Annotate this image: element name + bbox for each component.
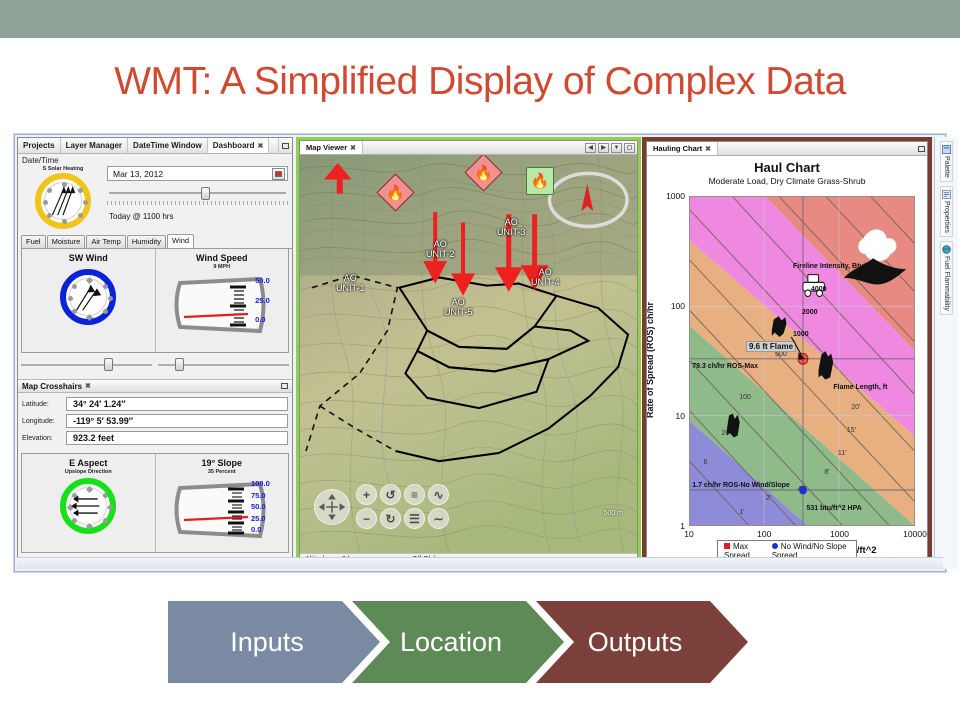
crosshair-row-elevation: Elevation: 923.2 feet [22,431,288,445]
menu-label: DateTime Window [133,141,202,150]
maximize-button[interactable]: ◻ [624,143,635,153]
page-title: WMT: A Simplified Display of Complex Dat… [0,60,960,104]
aspect-gauge: E Aspect Upslope Direction [22,454,155,552]
chart-plot-area[interactable]: Fireline Intensity, Btu/ft/sec 4000 2000… [689,196,915,526]
scale-value: 75.0 [251,492,270,500]
wind-speed-sub: 9 MPH [156,264,289,270]
slider-track-line [109,192,286,194]
next-button[interactable]: ▶ [598,143,609,153]
fire-symbol-safe-icon[interactable]: 🔥 [526,167,554,195]
rail-label: Fuel Flammability [943,256,950,311]
haul-chart-data-points [690,197,914,525]
palette-icon [942,145,951,154]
datetime-fields: Mar 13, 2012 Today @ 1100 hrs [104,166,288,229]
flow-step-location[interactable]: Location [352,601,564,683]
minimize-icon [918,146,925,152]
terrain-button[interactable]: ∿ [428,484,449,505]
window-status-bar [17,557,943,569]
ao-label-unit-4: AO UNIT-4 [531,267,560,287]
ao-line1: AO [434,239,447,249]
time-slider[interactable] [107,186,288,200]
tab-label: Map Viewer [306,143,347,152]
tab-label: Humidity [132,237,161,246]
tab-air-temp[interactable]: Air Temp [86,235,125,248]
slider-thumb[interactable] [201,187,210,200]
tab-label: Fuel [26,237,41,246]
close-icon[interactable]: ✖ [85,382,91,390]
tilt-button[interactable]: ≡ [404,484,425,505]
flow-step-label: Location [400,627,516,658]
scale-value: 0.0 [251,526,270,534]
rotate-left-button[interactable]: ↺ [380,484,401,505]
chart-y-axis-label: Rate of Spread (ROS) ch/hr [646,302,655,418]
tab-hauling-chart[interactable]: Hauling Chart ✖ [647,142,718,155]
menu-label: Dashboard [213,141,255,150]
wind-gauge-group: SW Wind [21,249,289,353]
x-tick: 10 [684,529,693,539]
hauling-chart-tabbar: Hauling Chart ✖ [647,142,927,156]
slope-sub: 35 Percent [156,469,289,475]
slope-title: 19° Slope [156,458,289,468]
tab-label: Wind [172,236,189,245]
x-tick: 100 [757,529,771,539]
minimize-icon [282,143,289,149]
solar-dial[interactable] [35,173,91,229]
close-icon[interactable]: ✖ [258,142,264,150]
minimize-icon[interactable] [281,383,288,389]
ao-label-unit-3: AO UNIT-3 [497,217,526,237]
ao-line2: UNIT-1 [336,283,365,293]
minimize-button[interactable] [278,138,292,153]
dropdown-button[interactable]: ▼ [611,143,622,153]
map-crosshairs-body: Latitude: 34° 24′ 1.24″ Longitude: -119°… [18,393,292,450]
wind-speed-title: Wind Speed [156,253,289,263]
close-icon[interactable]: ✖ [350,144,356,152]
slope-gauge: 19° Slope 35 Percent [155,454,289,552]
aspect-sub: Upslope Direction [22,469,155,475]
slider-track-line [21,364,152,366]
flow-step-outputs[interactable]: Outputs [536,601,748,683]
scale-value: 50.0 [255,277,270,285]
longitude-label: Longitude: [22,418,66,425]
map-crosshairs-title: Map Crosshairs [22,382,82,391]
map-canvas[interactable]: 🔥 🔥 🔥 AO UNIT-1 AO UNIT-2 A [300,155,637,553]
slope-dial[interactable]: 100.0 75.0 50.0 25.0 0.0 [168,478,276,540]
scale-value: 0.0 [255,316,270,324]
wind-speed-slider[interactable] [158,357,289,373]
elevation-value[interactable]: 923.2 feet [66,431,288,445]
y-tick: 100 [671,301,685,311]
wind-speed-dial[interactable]: 50.0 25.0 0.0 [168,273,276,335]
y-tick: 1000 [666,191,685,201]
tab-humidity[interactable]: Humidity [127,235,166,248]
menu-item-projects[interactable]: Projects [18,138,61,153]
inputs-panel: Projects Layer Manager DateTime Window D… [17,137,293,569]
flow-step-label: Inputs [230,627,318,658]
wind-speed-scale: 50.0 25.0 0.0 [255,277,270,324]
menu-label: Projects [23,141,55,150]
tab-label: Hauling Chart [653,144,702,153]
rail-label: Palette [943,156,950,178]
wind-direction-title: SW Wind [22,253,155,263]
application-window: Projects Layer Manager DateTime Window D… [14,134,946,572]
globe-icon [942,245,951,254]
latitude-label: Latitude: [22,401,66,408]
minimize-button[interactable] [915,146,927,152]
tab-label: Moisture [52,237,81,246]
ao-line2: UNIT-3 [497,227,526,237]
scale-value: 25.0 [251,515,270,523]
rail-label: Properties [943,201,950,233]
wind-direction-gauge: SW Wind [22,249,155,352]
tab-moisture[interactable]: Moisture [47,235,86,248]
time-slider-ticks [107,201,288,207]
ao-label-unit-1: AO UNIT-1 [336,273,365,293]
right-tool-rail: Palette Properties Fuel Flammability [934,137,958,569]
x-tick: 1000 [830,529,849,539]
map-viewer-tabbar: Map Viewer ✖ ◀ ▶ ▼ ◻ [300,141,637,155]
map-crosshairs-header[interactable]: Map Crosshairs ✖ [18,379,292,393]
solar-arrows-icon [41,179,85,223]
slider-thumb[interactable] [175,358,184,371]
wind-direction-dial[interactable] [60,269,116,325]
legend-swatch-square-icon [724,543,730,549]
menu-item-datetime-window[interactable]: DateTime Window [128,138,208,153]
aspect-title: E Aspect [22,458,155,468]
chart-plot-wrapper: 1 10 100 1000 10 100 1000 10000 [689,196,915,526]
hauling-chart-panel: Hauling Chart ✖ Haul Chart Moderate Load… [642,137,932,569]
ao-line2: UNIT-2 [426,249,455,259]
flatten-button[interactable]: ∼ [428,508,449,529]
process-flow-banner: Inputs Location Outputs [168,601,748,683]
date-value: Mar 13, 2012 [110,169,272,179]
today-text: Today @ 1100 hrs [107,212,288,221]
chart-subtitle: Moderate Load, Dry Climate Grass-Shrub [647,176,927,186]
ao-line1: AO [452,297,465,307]
wind-arrows-icon [66,275,110,319]
menu-item-layer-manager[interactable]: Layer Manager [61,138,128,153]
ao-label-unit-2: AO UNIT-2 [426,239,455,259]
ao-line1: AO [539,267,552,277]
map-viewer-panel: Map Viewer ✖ ◀ ▶ ▼ ◻ [296,137,641,569]
tab-fuel[interactable]: Fuel [21,235,46,248]
ao-label-unit-5: AO UNIT-5 [444,297,473,317]
flow-step-label: Outputs [588,627,697,658]
solar-caption: S Solar Heating [22,166,104,172]
pan-arrows-icon [315,490,349,524]
wind-direction-slider[interactable] [21,357,152,373]
flame-glyph-icon: 🔥 [527,168,553,194]
scale-value: 25.0 [255,297,270,305]
slider-thumb[interactable] [104,358,113,371]
y-tick: 10 [676,411,685,421]
crosshair-row-longitude: Longitude: -119° 5′ 53.99″ [22,414,288,428]
ao-line1: AO [505,217,518,227]
aspect-arrows-icon [66,484,110,528]
scale-value: 100.0 [251,480,270,488]
rotate-right-button[interactable]: ↻ [380,508,401,529]
properties-icon [942,190,951,199]
left-panel-menubar: Projects Layer Manager DateTime Window D… [18,138,292,154]
ao-boundaries-overlay [300,155,637,553]
longitude-value[interactable]: -119° 5′ 53.99″ [66,414,288,428]
close-icon[interactable]: ✖ [705,145,711,153]
solar-heating-gauge: S Solar Heating [22,166,104,229]
ao-line2: UNIT-4 [531,277,560,287]
menu-label: Layer Manager [66,141,122,150]
elevation-label: Elevation: [22,435,66,442]
rail-item-fuel-flammability[interactable]: Fuel Flammability [940,241,953,315]
ao-line1: AO [344,273,357,283]
datetime-row: S Solar Heating [18,166,292,229]
aspect-dial[interactable] [60,478,116,534]
rail-item-palette[interactable]: Palette [940,141,953,182]
crosshair-row-latitude: Latitude: 34° 24′ 1.24″ [22,397,288,411]
chart-title: Haul Chart [647,160,927,175]
zoom-in-button[interactable]: + [356,484,377,505]
weather-subtabs: Fuel Moisture Air Temp Humidity Wind [21,234,292,249]
flame-glyph-icon: 🔥 [383,180,408,205]
layers-button[interactable]: ☰ [404,508,425,529]
tab-wind[interactable]: Wind [167,234,194,248]
rail-item-properties[interactable]: Properties [940,186,953,237]
haul-chart-body: Haul Chart Moderate Load, Dry Climate Gr… [647,156,927,564]
legend-swatch-circle-icon [772,543,778,549]
calendar-button[interactable] [272,168,285,180]
datetime-section-label: Date/Time [18,154,292,166]
ao-line2: UNIT-5 [444,307,473,317]
calendar-icon [275,171,282,177]
menu-item-dashboard[interactable]: Dashboard ✖ [208,138,270,153]
wind-sliders [21,357,289,373]
flame-glyph-icon: 🔥 [471,160,496,185]
top-decorative-bar [0,0,960,38]
flow-step-inputs[interactable]: Inputs [168,601,380,683]
wind-speed-gauge: Wind Speed 9 MPH [155,249,289,352]
pan-control[interactable] [314,489,350,525]
map-scale-bar: 500 m [604,510,623,517]
prev-button[interactable]: ◀ [585,143,596,153]
tab-map-viewer[interactable]: Map Viewer ✖ [300,141,363,154]
zoom-out-button[interactable]: − [356,508,377,529]
tab-label: Air Temp [91,237,120,246]
scale-value: 50.0 [251,503,270,511]
slope-scale: 100.0 75.0 50.0 25.0 0.0 [251,480,270,534]
latitude-value[interactable]: 34° 24′ 1.24″ [66,397,288,411]
x-tick: 10000 [903,529,927,539]
terrain-gauge-group: E Aspect Upslope Direction [21,453,289,553]
menubar-spacer [269,138,278,153]
date-input[interactable]: Mar 13, 2012 [107,166,288,181]
